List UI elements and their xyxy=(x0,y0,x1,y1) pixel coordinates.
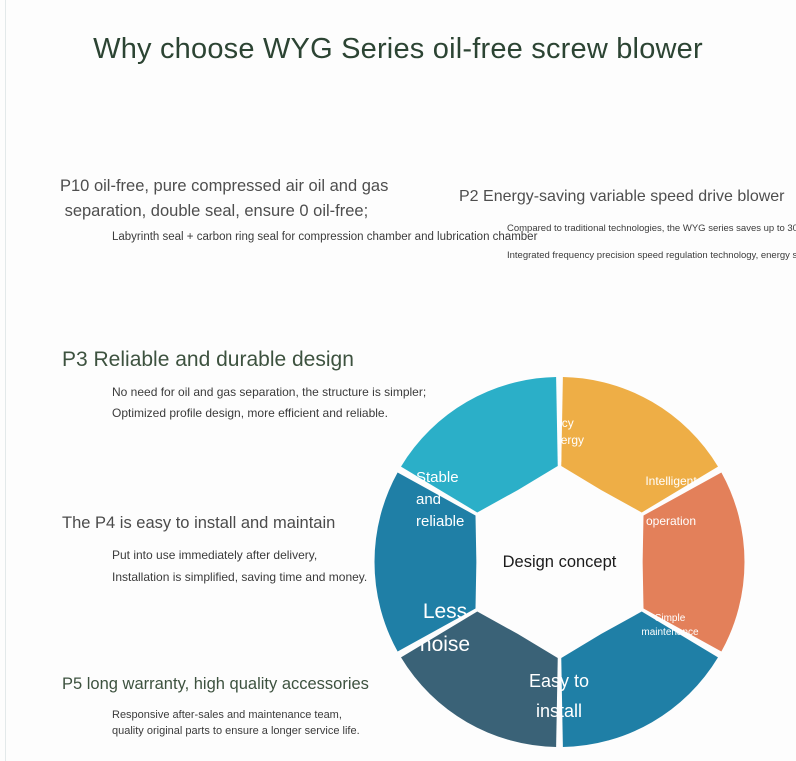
feature-sub-p4: Put into use immediately after delivery,… xyxy=(112,544,367,588)
design-concept-wheel: Highefficiencyand energy savingIntellige… xyxy=(364,365,749,755)
feature-sub-p2: Compared to traditional technologies, th… xyxy=(507,215,796,269)
feature-block-p2: P2 Energy-saving variable speed drive bl… xyxy=(459,185,796,269)
design-concept-wheel-svg: Highefficiencyand energy savingIntellige… xyxy=(364,365,749,755)
feature-heading-p5: P5 long warranty, high quality accessori… xyxy=(62,672,369,697)
wheel-center-label: Design concept xyxy=(503,553,617,571)
feature-sub-p5: Responsive after-sales and maintenance t… xyxy=(112,707,369,739)
feature-block-p4: The P4 is easy to install and maintain P… xyxy=(62,511,367,588)
page-title: Why choose WYG Series oil-free screw blo… xyxy=(0,33,796,66)
left-border-rule xyxy=(5,0,6,761)
feature-heading-p4: The P4 is easy to install and maintain xyxy=(62,511,367,536)
feature-heading-p2: P2 Energy-saving variable speed drive bl… xyxy=(459,185,796,209)
feature-block-p5: P5 long warranty, high quality accessori… xyxy=(62,672,369,739)
slide-canvas: Why choose WYG Series oil-free screw blo… xyxy=(0,0,796,761)
